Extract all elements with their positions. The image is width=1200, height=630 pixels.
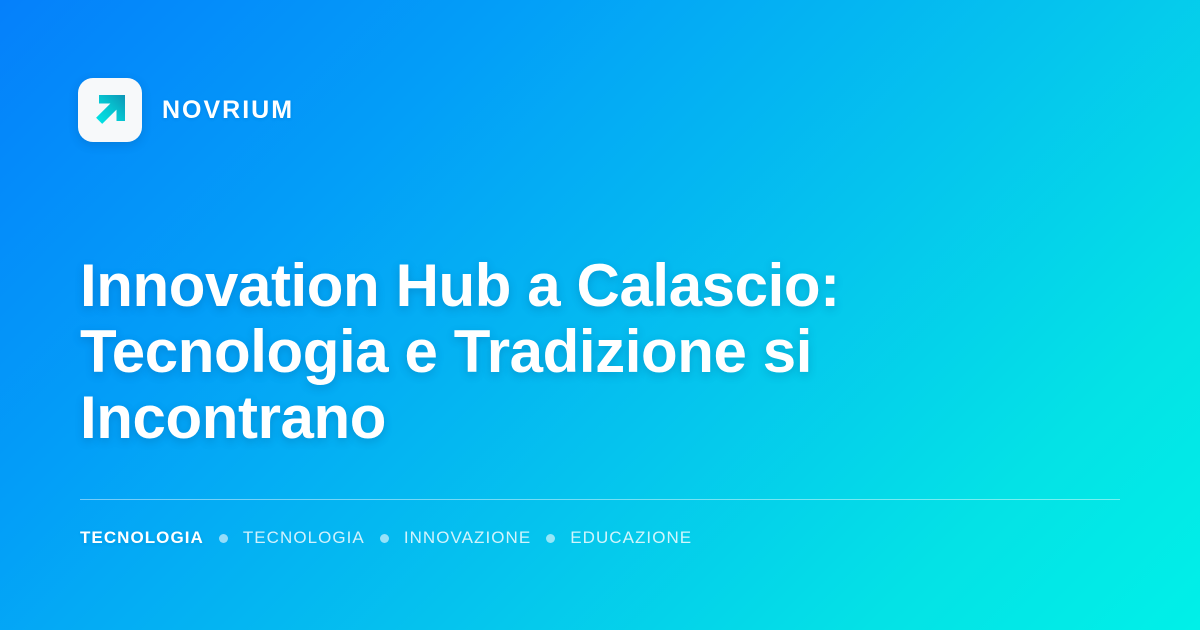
dot-separator-icon bbox=[219, 534, 228, 543]
brand-name: NOVRIUM bbox=[162, 98, 294, 123]
social-share-card: NOVRIUM Innovation Hub a Calascio: Tecno… bbox=[0, 0, 1200, 630]
title-line-2: Tecnologia e Tradizione si bbox=[80, 319, 1090, 385]
dot-separator-icon bbox=[380, 534, 389, 543]
tag-row: TECNOLOGIA TECNOLOGIA INNOVAZIONE EDUCAZ… bbox=[80, 526, 692, 550]
brand-lockup[interactable]: NOVRIUM bbox=[78, 78, 294, 142]
tag-item-innovazione[interactable]: INNOVAZIONE bbox=[404, 528, 531, 548]
tag-item-tecnologia[interactable]: TECNOLOGIA bbox=[243, 528, 365, 548]
tag-item-educazione[interactable]: EDUCAZIONE bbox=[570, 528, 692, 548]
title-line-1: Innovation Hub a Calascio: bbox=[80, 253, 1090, 319]
title-line-3: Incontrano bbox=[80, 385, 1090, 451]
page-title: Innovation Hub a Calascio: Tecnologia e … bbox=[80, 253, 1090, 451]
divider bbox=[80, 499, 1120, 500]
category-badge[interactable]: TECNOLOGIA bbox=[80, 528, 204, 548]
dot-separator-icon bbox=[546, 534, 555, 543]
arrow-up-right-icon bbox=[90, 90, 130, 130]
logo-tile bbox=[78, 78, 142, 142]
